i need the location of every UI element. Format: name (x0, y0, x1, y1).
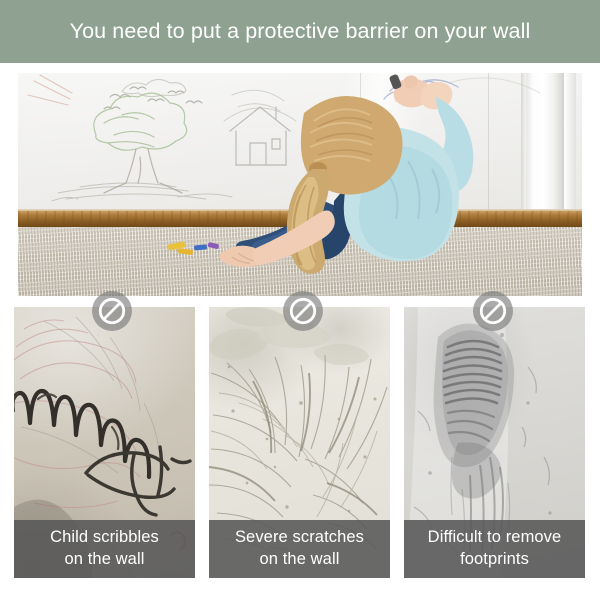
panel-label-bar: Child scribbles on the wall (14, 520, 195, 578)
prohibition-icon-glyph (97, 296, 127, 326)
problem-panels: Child scribbles on the wall (0, 307, 600, 578)
prohibition-icon (92, 291, 132, 331)
panel-label-bar: Severe scratches on the wall (209, 520, 390, 578)
header-band: You need to put a protective barrier on … (0, 0, 600, 63)
girl-figure (18, 73, 582, 296)
panel-footprints: Difficult to remove footprints (404, 307, 585, 578)
prohibition-icon (473, 291, 513, 331)
panel-label-text: Difficult to remove footprints (428, 527, 562, 571)
hero-photo (18, 73, 582, 296)
prohibition-icon (283, 291, 323, 331)
page-title: You need to put a protective barrier on … (70, 19, 531, 44)
prohibition-icon-glyph (478, 296, 508, 326)
crayons-on-floor (168, 241, 220, 255)
prohibition-icon-glyph (288, 296, 318, 326)
panel-label-text: Child scribbles on the wall (50, 527, 159, 571)
panel-label-text: Severe scratches on the wall (235, 527, 364, 571)
hero-photo-inner (18, 73, 582, 296)
panel-label-bar: Difficult to remove footprints (404, 520, 585, 578)
panel-child-scribbles: Child scribbles on the wall (14, 307, 195, 578)
panel-severe-scratches: Severe scratches on the wall (209, 307, 390, 578)
